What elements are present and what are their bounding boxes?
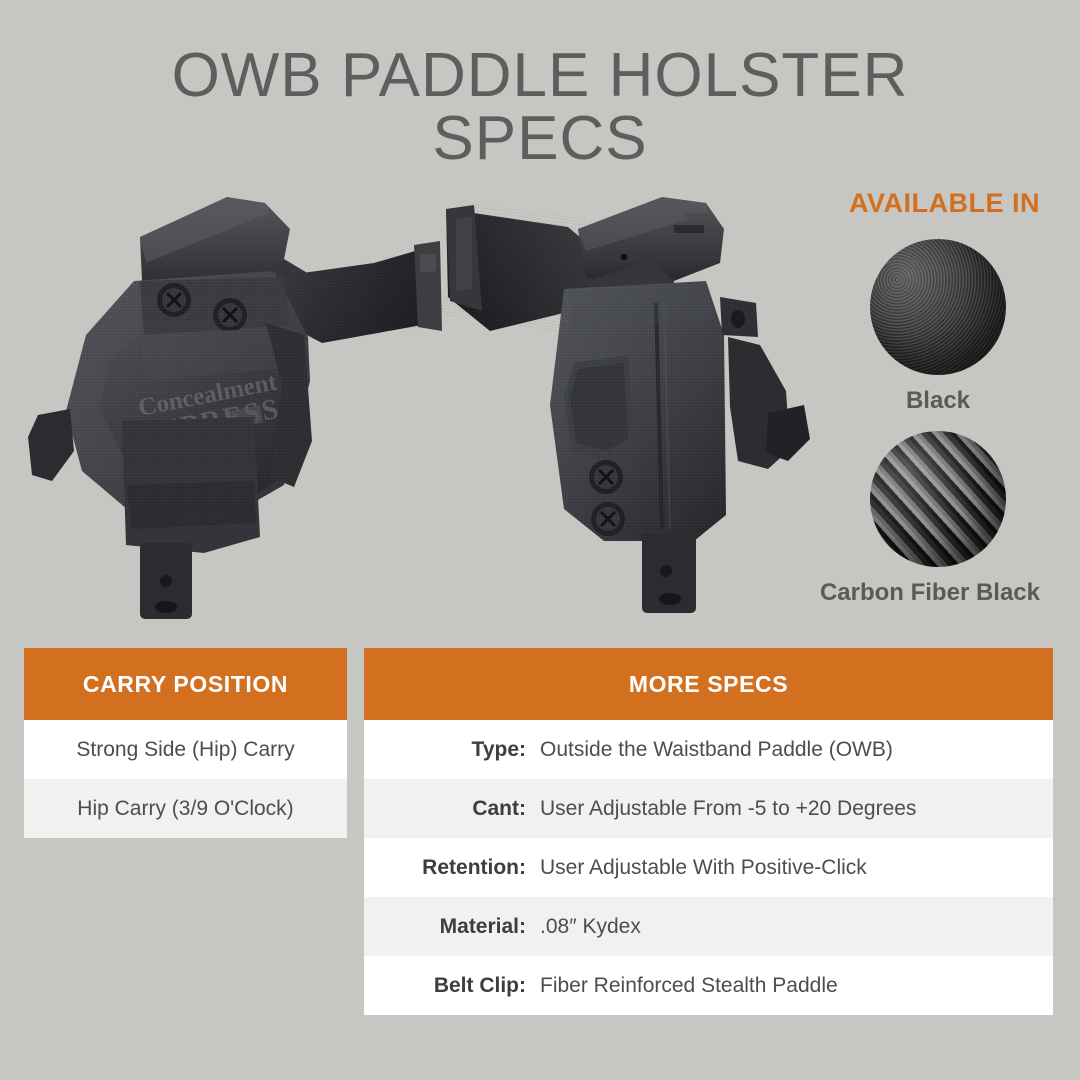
table-row: Hip Carry (3/9 O'Clock): [24, 779, 347, 838]
available-in-heading: AVAILABLE IN: [760, 190, 1044, 217]
spec-value-belt-clip: Fiber Reinforced Stealth Paddle: [534, 974, 1053, 998]
table-row: Belt Clip: Fiber Reinforced Stealth Padd…: [364, 956, 1053, 1015]
table-row: Retention: User Adjustable With Positive…: [364, 838, 1053, 897]
carry-position-value: Strong Side (Hip) Carry: [76, 738, 294, 762]
spec-value-material: .08″ Kydex: [534, 915, 1053, 939]
spec-label-belt-clip: Belt Clip:: [364, 974, 534, 998]
carry-position-table-header: CARRY POSITION: [24, 648, 347, 720]
available-in-panel: AVAILABLE IN Black Carbon Fiber Black: [760, 190, 1044, 605]
more-specs-table-header: MORE SPECS: [364, 648, 1053, 720]
page-title-line-2: SPECS: [0, 107, 1080, 170]
page-title-line-1: OWB PADDLE HOLSTER: [0, 44, 1080, 107]
spec-value-cant: User Adjustable From -5 to +20 Degrees: [534, 797, 1053, 821]
table-row: Strong Side (Hip) Carry: [24, 720, 347, 779]
spec-value-type: Outside the Waistband Paddle (OWB): [534, 738, 1053, 762]
holster-front-view: Concealment EXPRESS: [22, 185, 442, 625]
spec-label-type: Type:: [364, 738, 534, 762]
table-row: Cant: User Adjustable From -5 to +20 Deg…: [364, 779, 1053, 838]
carbon-fiber-black-swatch[interactable]: [870, 431, 1006, 567]
spec-value-retention: User Adjustable With Positive-Click: [534, 856, 1053, 880]
table-row: Type: Outside the Waistband Paddle (OWB): [364, 720, 1053, 779]
carbon-fiber-black-swatch-item[interactable]: Carbon Fiber Black: [760, 431, 1044, 605]
table-row: Material: .08″ Kydex: [364, 897, 1053, 956]
page-title: OWB PADDLE HOLSTER SPECS: [0, 44, 1080, 170]
black-swatch-label: Black: [796, 389, 1080, 413]
black-swatch-item[interactable]: Black: [760, 239, 1044, 413]
spec-label-material: Material:: [364, 915, 534, 939]
carry-position-value: Hip Carry (3/9 O'Clock): [77, 797, 293, 821]
spec-label-cant: Cant:: [364, 797, 534, 821]
spec-label-retention: Retention:: [364, 856, 534, 880]
more-specs-table: MORE SPECS Type: Outside the Waistband P…: [364, 648, 1053, 1015]
black-swatch[interactable]: [870, 239, 1006, 375]
carbon-fiber-black-swatch-label: Carbon Fiber Black: [760, 581, 1044, 605]
carry-position-table: CARRY POSITION Strong Side (Hip) Carry H…: [24, 648, 347, 838]
